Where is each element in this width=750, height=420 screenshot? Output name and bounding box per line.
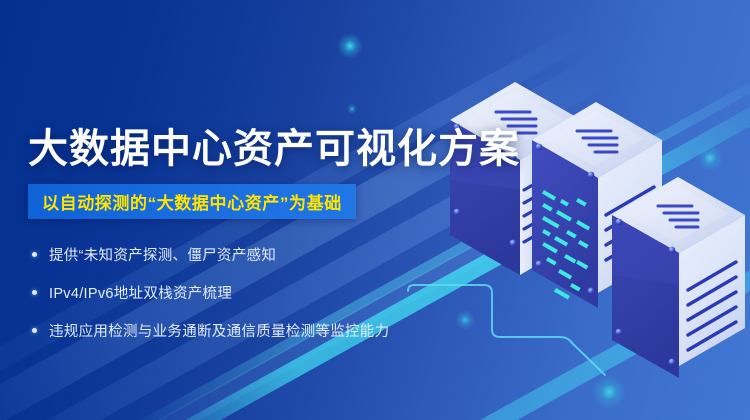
feature-text: 违规应用检测与业务通断及通信质量检测等监控能力 (49, 320, 389, 341)
subtitle-text: 以自动探测的“大数据中心资产”为基础 (42, 189, 342, 214)
data-center-banner: 大数据中心资产可视化方案 以自动探测的“大数据中心资产”为基础 提供“未知资产探… (0, 0, 750, 420)
bullet-dot-icon (32, 328, 37, 333)
banner-text-block: 大数据中心资产可视化方案 以自动探测的“大数据中心资产”为基础 提供“未知资产探… (0, 0, 460, 420)
bullet-dot-icon (32, 290, 37, 295)
subtitle-badge: 以自动探测的“大数据中心资产”为基础 (28, 184, 356, 219)
server-illustration (420, 40, 750, 420)
list-item: 违规应用检测与业务通断及通信质量检测等监控能力 (32, 316, 452, 344)
list-item: 提供“未知资产探测、僵尸资产感知 (32, 240, 452, 268)
bullet-dot-icon (32, 252, 37, 257)
list-item: IPv4/IPv6地址双栈资产梳理 (32, 278, 452, 306)
feature-text: 提供“未知资产探测、僵尸资产感知 (49, 244, 276, 265)
server-rack-right (612, 177, 745, 378)
feature-text: IPv4/IPv6地址双栈资产梳理 (49, 282, 232, 303)
page-title: 大数据中心资产可视化方案 (28, 126, 520, 172)
feature-list: 提供“未知资产探测、僵尸资产感知 IPv4/IPv6地址双栈资产梳理 违规应用检… (32, 240, 452, 354)
